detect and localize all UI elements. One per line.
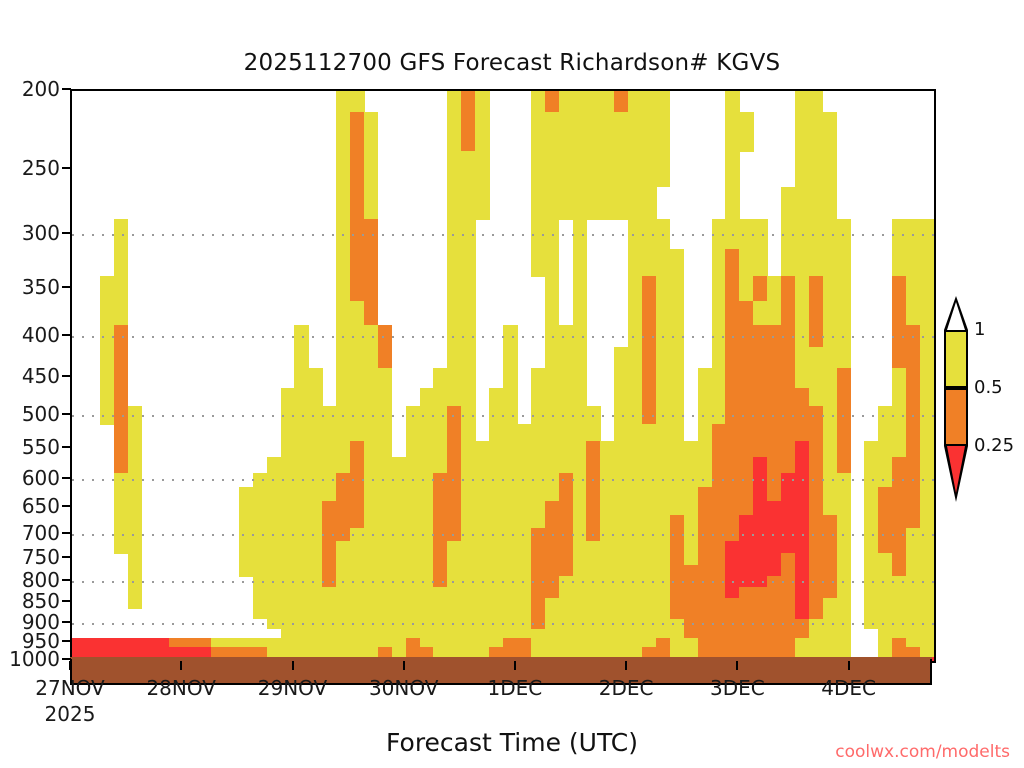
- heatmap-cell: [322, 501, 364, 515]
- heatmap-cell: [586, 441, 601, 458]
- heatmap-cell: [823, 301, 851, 325]
- heatmap-cell: [878, 501, 920, 515]
- heatmap-cell: [864, 528, 879, 541]
- colorbar-tick-label: 0.25: [974, 435, 1014, 456]
- page-title: 2025112700 GFS Forecast Richardson# KGVS: [0, 50, 1024, 76]
- heatmap-cell: [531, 553, 573, 565]
- x-axis-tick-mark: [403, 661, 405, 670]
- heatmap-cell: [795, 587, 810, 598]
- heatmap-cell: [712, 424, 824, 441]
- heatmap-cell: [725, 553, 781, 565]
- heatmap-cell: [781, 187, 837, 220]
- heatmap-cell: [573, 249, 588, 277]
- heatmap-cell: [712, 219, 768, 249]
- heatmap-cell: [559, 576, 671, 588]
- y-axis-tick-label: 200: [22, 79, 60, 99]
- heatmap-cell: [545, 301, 560, 325]
- heatmap-cell: [878, 528, 906, 541]
- heatmap-cell: [447, 424, 462, 441]
- heatmap-cell: [739, 249, 767, 277]
- heatmap-cell: [364, 112, 379, 152]
- heatmap-cell: [100, 325, 115, 348]
- heatmap-cell: [698, 406, 726, 424]
- heatmap-cell: [837, 541, 852, 554]
- heatmap-cell: [781, 565, 796, 577]
- heatmap-cell: [767, 276, 782, 302]
- heatmap-cell: [670, 565, 726, 577]
- heatmap-cell: [809, 457, 824, 473]
- heatmap-cell: [573, 473, 588, 488]
- y-axis-tick-mark: [62, 477, 71, 479]
- x-axis-tick-mark: [292, 661, 294, 670]
- heatmap-cell: [906, 565, 934, 577]
- heatmap-cell: [114, 424, 129, 441]
- heatmap-cell: [281, 406, 393, 424]
- heatmap-cell: [920, 406, 935, 424]
- heatmap-cell: [837, 388, 852, 407]
- heatmap-cell: [864, 576, 934, 588]
- heatmap-cell: [614, 347, 642, 368]
- heatmap-cell: [628, 301, 643, 325]
- heatmap-cell: [364, 301, 379, 325]
- y-axis-tick-mark: [62, 375, 71, 377]
- heatmap-cell: [795, 112, 837, 152]
- heatmap-cell: [322, 541, 337, 554]
- heatmap-cell: [823, 276, 851, 302]
- heatmap-cell: [573, 219, 588, 249]
- heatmap-cell: [420, 388, 476, 407]
- heatmap-cell: [433, 368, 475, 388]
- heatmap-cell: [322, 528, 350, 541]
- heatmap-cell: [128, 576, 143, 588]
- heatmap-cell: [809, 325, 824, 348]
- heatmap-cell: [600, 528, 670, 541]
- heatmap-cell: [712, 347, 727, 368]
- heatmap-cell: [433, 515, 461, 529]
- heatmap-cell: [336, 219, 351, 249]
- y-axis-tick-mark: [62, 658, 71, 660]
- heatmap-cell: [447, 565, 531, 577]
- heatmap-cell: [725, 276, 740, 302]
- heatmap-cell: [823, 457, 838, 473]
- heatmap-cell: [809, 501, 824, 515]
- heatmap-cell: [864, 441, 906, 458]
- heatmap-cell: [545, 609, 671, 620]
- heatmap-cell: [239, 515, 323, 529]
- heatmap-cell: [364, 501, 434, 515]
- heatmap-cell: [114, 388, 129, 407]
- heatmap-cell: [670, 553, 685, 565]
- heatmap-cell: [864, 587, 934, 598]
- heatmap-cell: [864, 473, 892, 488]
- y-axis-tick-mark: [62, 579, 71, 581]
- heatmap-cell: [920, 501, 935, 515]
- heatmap-cell: [350, 441, 365, 458]
- heatmap-cell: [670, 515, 685, 529]
- heatmap-cell: [642, 347, 657, 368]
- heatmap-cell: [100, 406, 115, 424]
- heatmap-cell: [447, 406, 462, 424]
- heatmap-cell: [573, 487, 588, 502]
- heatmap-cell: [128, 441, 143, 458]
- heatmap-cell: [586, 528, 601, 541]
- heatmap-cell: [739, 515, 809, 529]
- heatmap-cell: [795, 441, 810, 458]
- heatmap-cell: [294, 347, 309, 368]
- heatmap-cell: [545, 276, 560, 302]
- heatmap-cell: [670, 609, 796, 620]
- heatmap-cell: [809, 441, 824, 458]
- heatmap-cell: [809, 587, 837, 598]
- heatmap-cell: [447, 151, 489, 187]
- heatmap-cell: [809, 528, 837, 541]
- heatmap-cell: [698, 388, 726, 407]
- heatmap-cell: [920, 457, 935, 473]
- heatmap-cell: [600, 473, 712, 488]
- heatmap-cell: [892, 276, 907, 302]
- heatmap-cell: [114, 515, 142, 529]
- heatmap-cell: [600, 487, 698, 502]
- heatmap-cell: [642, 301, 657, 325]
- heatmap-cell: [294, 325, 309, 348]
- heatmap-cell: [823, 609, 851, 620]
- x-axis-tick-mark: [736, 661, 738, 670]
- heatmap-cell: [239, 501, 323, 515]
- heatmap-cell: [364, 515, 434, 529]
- heatmap-cell: [114, 325, 129, 348]
- heatmap-cell: [864, 598, 934, 609]
- heatmap-cell: [128, 424, 143, 441]
- heatmap-cell: [753, 487, 768, 502]
- heatmap-cell: [628, 325, 643, 348]
- heatmap-cell: [433, 553, 448, 565]
- heatmap-cell: [350, 528, 434, 541]
- heatmap-cell: [336, 576, 434, 588]
- heatmap-cell: [614, 406, 642, 424]
- heatmap-cell: [350, 219, 378, 249]
- y-axis-tick-label: 500: [22, 404, 60, 424]
- heatmap-cell: [795, 347, 851, 368]
- heatmap-cell: [364, 457, 448, 473]
- x-axis-tick-label: 30NOV: [369, 676, 438, 700]
- heatmap-cell: [837, 528, 852, 541]
- heatmap-cell: [350, 249, 378, 277]
- heatmap-cell: [823, 424, 838, 441]
- heatmap-cell: [433, 565, 448, 577]
- heatmap-cell: [878, 406, 906, 424]
- y-axis-tick-label: 700: [22, 523, 60, 543]
- heatmap-cell: [809, 301, 824, 325]
- heatmap-cell: [920, 325, 935, 348]
- x-axis-tick-label: 28NOV: [146, 676, 215, 700]
- y-axis-tick-label: 400: [22, 325, 60, 345]
- y-axis-tick-mark: [62, 621, 71, 623]
- heatmap-cell: [600, 441, 712, 458]
- heatmap-cell: [781, 219, 851, 249]
- heatmap-cell: [614, 368, 642, 388]
- heatmap-cell: [336, 301, 364, 325]
- heatmap-cell: [739, 587, 795, 598]
- x-axis-tick-mark: [848, 661, 850, 670]
- heatmap-cell: [489, 406, 517, 424]
- heatmap-cell: [920, 388, 935, 407]
- heatmap-cell: [725, 388, 809, 407]
- heatmap-cell: [628, 249, 684, 277]
- heatmap-cell: [364, 487, 434, 502]
- heatmap-cell: [739, 528, 809, 541]
- heatmap-cell: [795, 325, 810, 348]
- heatmap-cell: [892, 388, 907, 407]
- heatmap-cell: [725, 301, 753, 325]
- heatmap-cell: [823, 325, 851, 348]
- heatmap-cell: [475, 91, 490, 112]
- heatmap-cell: [336, 541, 434, 554]
- heatmap-cell: [447, 541, 531, 554]
- heatmap-cell: [253, 598, 532, 609]
- heatmap-cell: [628, 91, 670, 112]
- heatmap-cell: [336, 91, 364, 112]
- heatmap-cell: [378, 347, 393, 368]
- heatmap-cell: [461, 528, 531, 541]
- x-axis-tick-label: 29NOV: [258, 676, 327, 700]
- heatmap-cell: [725, 91, 740, 112]
- heatmap-cell: [892, 368, 907, 388]
- heatmap-cell: [239, 528, 323, 541]
- heatmap-cell: [531, 388, 587, 407]
- heatmap-cell: [725, 587, 740, 598]
- heatmap-cell: [294, 368, 322, 388]
- heatmap-cell: [698, 368, 726, 388]
- heatmap-cell: [712, 325, 727, 348]
- heatmap-cell: [531, 249, 559, 277]
- heatmap-cell: [461, 91, 476, 112]
- y-axis-tick-label: 750: [22, 547, 60, 567]
- heatmap-cell: [809, 388, 837, 407]
- heatmap-cell: [781, 249, 851, 277]
- heatmap-cell: [559, 487, 574, 502]
- heatmap-cell: [864, 565, 892, 577]
- heatmap-cell: [545, 91, 560, 112]
- heatmap-cell: [614, 91, 629, 112]
- heatmap-cell: [670, 598, 796, 609]
- heatmap-cell: [892, 249, 934, 277]
- heatmap-cell: [531, 609, 546, 620]
- heatmap-cell: [642, 325, 657, 348]
- colorbar-arrow-down-fill: [947, 446, 965, 493]
- heatmap-cell: [531, 565, 573, 577]
- x-axis-tick-label: 3DEC: [710, 676, 765, 700]
- y-axis-tick-mark: [62, 640, 71, 642]
- heatmap-cell: [864, 553, 892, 565]
- heatmap-cell: [906, 528, 934, 541]
- x-axis-tick-label: 1DEC: [488, 676, 543, 700]
- heatmap-cell: [670, 576, 726, 588]
- heatmap-cell: [712, 457, 754, 473]
- heatmap-cell: [878, 424, 906, 441]
- heatmap-cell: [336, 388, 392, 407]
- heatmap-cell: [364, 441, 392, 458]
- heatmap-cell: [503, 325, 518, 348]
- heatmap-cell: [531, 598, 546, 609]
- y-axis-tick-label: 450: [22, 366, 60, 386]
- heatmap-cell: [433, 541, 448, 554]
- heatmap-cell: [892, 347, 920, 368]
- heatmap-cell: [336, 368, 392, 388]
- heatmap-cell: [128, 565, 143, 577]
- y-axis-tick-label: 300: [22, 223, 60, 243]
- heatmap-cell: [698, 553, 726, 565]
- heatmap-cell: [600, 457, 712, 473]
- y-axis-tick-mark: [62, 167, 71, 169]
- heatmap-cell: [892, 553, 907, 565]
- heatmap-cell: [864, 501, 879, 515]
- heatmap-cell: [378, 325, 393, 348]
- heatmap-cell: [447, 441, 462, 458]
- heatmap-cell: [586, 473, 601, 488]
- heatmap-cell: [739, 276, 754, 302]
- heatmap-cell: [447, 325, 475, 348]
- heatmap-cell: [114, 406, 129, 424]
- heatmap-cell: [684, 553, 699, 565]
- heatmap-cell: [920, 347, 935, 368]
- heatmap-cell: [725, 187, 740, 220]
- heatmap-cell: [489, 388, 517, 407]
- heatmap-cell: [364, 473, 434, 488]
- heatmap-cell: [406, 424, 448, 441]
- y-axis-tick-label: 850: [22, 591, 60, 611]
- heatmap-cell: [573, 528, 588, 541]
- x-axis-tick-mark: [69, 661, 71, 670]
- heatmap-cell: [809, 565, 837, 577]
- heatmap-cell: [433, 487, 461, 502]
- heatmap-cell: [823, 473, 851, 488]
- heatmap-cell: [447, 301, 475, 325]
- heatmap-cell: [767, 457, 795, 473]
- heatmap-cell: [281, 424, 393, 441]
- heatmap-cell: [114, 347, 129, 368]
- heatmap-cell: [684, 528, 699, 541]
- heatmap-cell: [114, 441, 129, 458]
- heatmap-cell: [670, 541, 685, 554]
- heatmap-cell: [864, 457, 892, 473]
- heatmap-cell: [586, 487, 601, 502]
- heatmap-cell: [461, 501, 545, 515]
- heatmap-cell: [447, 249, 475, 277]
- heatmap-cell: [114, 473, 142, 488]
- heatmap-cell: [767, 487, 782, 502]
- heatmap-cell: [753, 276, 768, 302]
- heatmap-cell: [447, 576, 531, 588]
- heatmap-cell: [281, 388, 323, 407]
- heatmap-cell: [781, 276, 796, 302]
- heatmap-cell: [114, 487, 142, 502]
- heatmap-cell: [114, 528, 142, 541]
- heatmap-cell: [906, 424, 921, 441]
- heatmap-cell: [336, 553, 434, 565]
- heatmap-cell: [628, 219, 670, 249]
- heatmap-cell: [475, 112, 490, 152]
- heatmap-cell: [239, 487, 337, 502]
- heatmap-cell: [837, 553, 852, 565]
- heatmap-cell: [336, 473, 364, 488]
- heatmap-cell: [614, 424, 684, 441]
- heatmap-cell: [795, 276, 810, 302]
- heatmap-cell: [725, 249, 740, 277]
- heatmap-cell: [461, 424, 476, 441]
- heatmap-cell: [823, 441, 838, 458]
- y-axis-tick-label: 350: [22, 277, 60, 297]
- heatmap-cell: [753, 501, 809, 515]
- heatmap-cell: [698, 528, 740, 541]
- heatmap-cell: [878, 487, 920, 502]
- heatmap-cell: [322, 553, 337, 565]
- heatmap-cell: [253, 587, 532, 598]
- heatmap-cell: [712, 473, 754, 488]
- heatmap-cell: [573, 501, 588, 515]
- heatmap-cell: [892, 473, 920, 488]
- x-axis-tick-label: 4DEC: [821, 676, 876, 700]
- heatmap-cell: [461, 457, 587, 473]
- heatmap-cell: [725, 565, 781, 577]
- heatmap-cell: [906, 388, 921, 407]
- heatmap-cell: [725, 541, 809, 554]
- heatmap-cell: [837, 565, 852, 577]
- heatmap-cell: [461, 441, 587, 458]
- heatmap-cell: [586, 457, 601, 473]
- heatmap-cell: [906, 553, 934, 565]
- heatmap-cell: [253, 576, 323, 588]
- y-axis-labels: 2002503003504004505005506006507007508008…: [0, 0, 70, 768]
- heatmap-cell: [559, 473, 574, 488]
- heatmap-cell: [656, 347, 684, 368]
- y-axis-tick-mark: [62, 446, 71, 448]
- heatmap-cell: [753, 473, 768, 488]
- heatmap-cell: [600, 515, 670, 529]
- heatmap-cell: [336, 151, 351, 187]
- heatmap-cell: [781, 473, 809, 488]
- heatmap-cell: [809, 609, 824, 620]
- heatmap-cell: [545, 515, 573, 529]
- heatmap-cell: [906, 276, 934, 302]
- heatmap-cell: [350, 276, 378, 302]
- heatmap-cell: [336, 347, 378, 368]
- heatmap-cell: [406, 406, 448, 424]
- y-axis-tick-mark: [62, 286, 71, 288]
- heatmap-cell: [531, 576, 559, 588]
- heatmap-cell: [545, 501, 573, 515]
- colorbar-tick-label: 0.5: [974, 377, 1003, 398]
- heatmap-cell: [489, 424, 601, 441]
- heatmap-cell: [878, 541, 906, 554]
- x-axis-tick-sublabel: 2025: [45, 702, 96, 726]
- colorbar-segment-orange: [944, 388, 968, 446]
- heatmap-cell: [809, 598, 824, 609]
- heatmap-cell: [753, 301, 781, 325]
- heatmap-cell: [253, 609, 532, 620]
- y-axis-tick-mark: [62, 600, 71, 602]
- heatmap-cell: [906, 441, 921, 458]
- heatmap-cell: [586, 515, 601, 529]
- y-axis-tick-label: 600: [22, 468, 60, 488]
- heatmap-cell: [698, 515, 740, 529]
- heatmap-cell: [823, 501, 851, 515]
- heatmap-cell: [461, 406, 476, 424]
- heatmap-cell: [670, 528, 685, 541]
- heatmap-cell: [114, 249, 129, 277]
- heatmap-cell: [725, 576, 767, 588]
- credit-link[interactable]: coolwx.com/modelts: [835, 742, 1010, 762]
- chart-root: 2025112700 GFS Forecast Richardson# KGVS…: [0, 0, 1024, 768]
